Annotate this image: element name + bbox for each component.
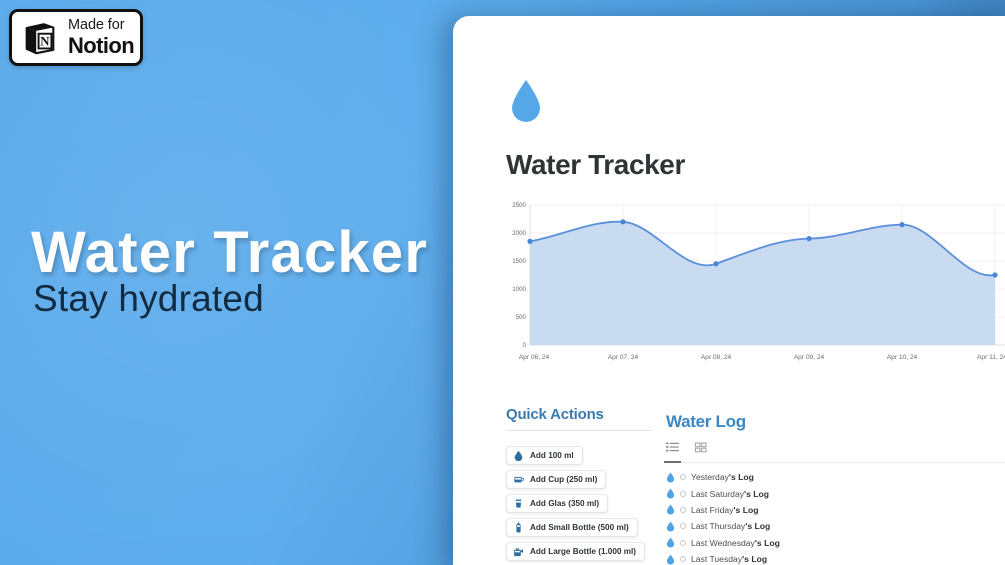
chart-x-tick: Apr 08, 24 (701, 354, 732, 361)
chart-x-tick: Apr 10, 24 (887, 354, 918, 361)
chart-x-tick: Apr 06, 24 (519, 354, 550, 361)
water-drop-icon (509, 78, 543, 124)
water-drop-icon (666, 521, 675, 532)
page-dot-icon (680, 556, 686, 562)
water-drop-icon (666, 554, 675, 565)
list-item[interactable]: Last Friday's Log Congrat (666, 502, 1005, 518)
add-glass-button[interactable]: Add Glas (350 ml) (506, 494, 608, 513)
chart-x-tick: Apr 11, 24 (977, 354, 1005, 361)
log-suffix: 's Log (734, 505, 759, 515)
log-suffix: 's Log (755, 538, 780, 548)
water-drop-icon (666, 537, 675, 548)
add-100ml-button[interactable]: Add 100 ml (506, 446, 583, 465)
list-icon (666, 442, 679, 453)
screenshot-root: N Made for Notion Water Tracker Stay hyd… (0, 0, 1005, 565)
log-day: Last Saturday (691, 489, 744, 499)
gallery-icon (695, 442, 707, 453)
chart-y-tick: 2500 (512, 202, 526, 209)
log-day: Last Wednesday (691, 538, 755, 548)
made-for-notion-badge: N Made for Notion (9, 9, 143, 66)
chart-x-ticks: Apr 06, 24 Apr 07, 24 Apr 08, 24 Apr 09,… (519, 354, 1005, 361)
water-log-heading: Water Log (666, 412, 1005, 432)
app-preview-card: Water Tracker (453, 16, 1005, 565)
list-item-label: Last Saturday's Log (691, 489, 769, 499)
list-item[interactable]: Last Wednesday's Log Congrat (666, 535, 1005, 551)
water-drop-icon (666, 504, 675, 515)
log-day: Last Tuesday (691, 554, 742, 564)
list-item-label: Last Tuesday's Log (691, 554, 767, 564)
quick-action-label: Add Small Bottle (500 ml) (530, 523, 629, 532)
page-dot-icon (680, 540, 686, 546)
log-suffix: 's Log (745, 521, 770, 531)
quick-actions-divider (506, 430, 652, 431)
add-small-bottle-button[interactable]: Add Small Bottle (500 ml) (506, 518, 638, 537)
promo-subtitle: Stay hydrated (33, 278, 264, 320)
page-dot-icon (680, 491, 686, 497)
chart-y-ticks: 2500 2000 1500 1000 500 0 (512, 202, 526, 349)
glass-icon (513, 498, 524, 509)
chart-y-tick: 1000 (512, 286, 526, 293)
notion-cube-icon: N (21, 19, 59, 57)
log-suffix: 's Log (742, 554, 767, 564)
water-log-view-tabs (666, 442, 1005, 463)
page-title: Water Tracker (506, 149, 685, 181)
water-drop-icon (666, 472, 675, 483)
quick-actions-section: Quick Actions Add 100 ml (506, 406, 654, 565)
large-bottle-icon (513, 546, 524, 557)
water-drop-icon (666, 488, 675, 499)
list-item-label: Last Wednesday's Log (691, 538, 780, 548)
list-item[interactable]: Yesterday's Log (666, 469, 1005, 485)
page-dot-icon (680, 507, 686, 513)
water-log-rows: Yesterday's Log Last Saturday's Log Last… (666, 469, 1005, 565)
chart-y-tick: 1500 (512, 258, 526, 265)
page-dot-icon (680, 474, 686, 480)
chart-svg: 2500 2000 1500 1000 500 0 Apr 06, 24 Apr… (506, 193, 1005, 365)
svg-text:N: N (40, 34, 50, 48)
add-large-bottle-button[interactable]: Add Large Bottle (1.000 ml) (506, 542, 645, 561)
badge-brand-label: Notion (68, 35, 134, 57)
log-day: Last Friday (691, 505, 734, 515)
log-suffix: 's Log (729, 472, 754, 482)
badge-made-for-label: Made for (68, 18, 134, 33)
badge-text-block: Made for Notion (68, 18, 134, 57)
gallery-view-tab[interactable] (695, 442, 707, 457)
chart-area-fill (530, 222, 995, 345)
quick-actions-heading: Quick Actions (506, 406, 654, 423)
small-bottle-icon (513, 522, 524, 533)
list-item[interactable]: Last Tuesday's Log (666, 551, 1005, 565)
chart-x-tick: Apr 07, 24 (608, 354, 639, 361)
list-item-label: Last Thursday's Log (691, 521, 770, 531)
promo-title: Water Tracker (31, 219, 428, 286)
water-log-section: Water Log (666, 412, 1005, 565)
list-item-label: Yesterday's Log (691, 472, 754, 482)
list-item[interactable]: Last Thursday's Log (666, 518, 1005, 534)
water-drop-icon (513, 450, 524, 461)
add-cup-button[interactable]: Add Cup (250 ml) (506, 470, 606, 489)
page-dot-icon (680, 523, 686, 529)
quick-action-label: Add 100 ml (530, 451, 574, 460)
log-day: Yesterday (691, 472, 729, 482)
list-view-tab[interactable] (666, 442, 679, 457)
log-day: Last Thursday (691, 521, 745, 531)
quick-action-label: Add Large Bottle (1.000 ml) (530, 547, 636, 556)
chart-y-tick: 0 (523, 342, 527, 349)
water-intake-chart: 2500 2000 1500 1000 500 0 Apr 06, 24 Apr… (506, 193, 1005, 365)
list-item-label: Last Friday's Log (691, 505, 758, 515)
log-suffix: 's Log (744, 489, 769, 499)
list-item[interactable]: Last Saturday's Log (666, 485, 1005, 501)
chart-x-tick: Apr 09, 24 (794, 354, 825, 361)
cup-icon (513, 474, 524, 485)
chart-y-tick: 2000 (512, 230, 526, 237)
chart-y-tick: 500 (516, 314, 527, 321)
quick-actions-list: Add 100 ml Add Cup (250 ml) (506, 446, 654, 565)
quick-action-label: Add Cup (250 ml) (530, 475, 597, 484)
quick-action-label: Add Glas (350 ml) (530, 499, 599, 508)
